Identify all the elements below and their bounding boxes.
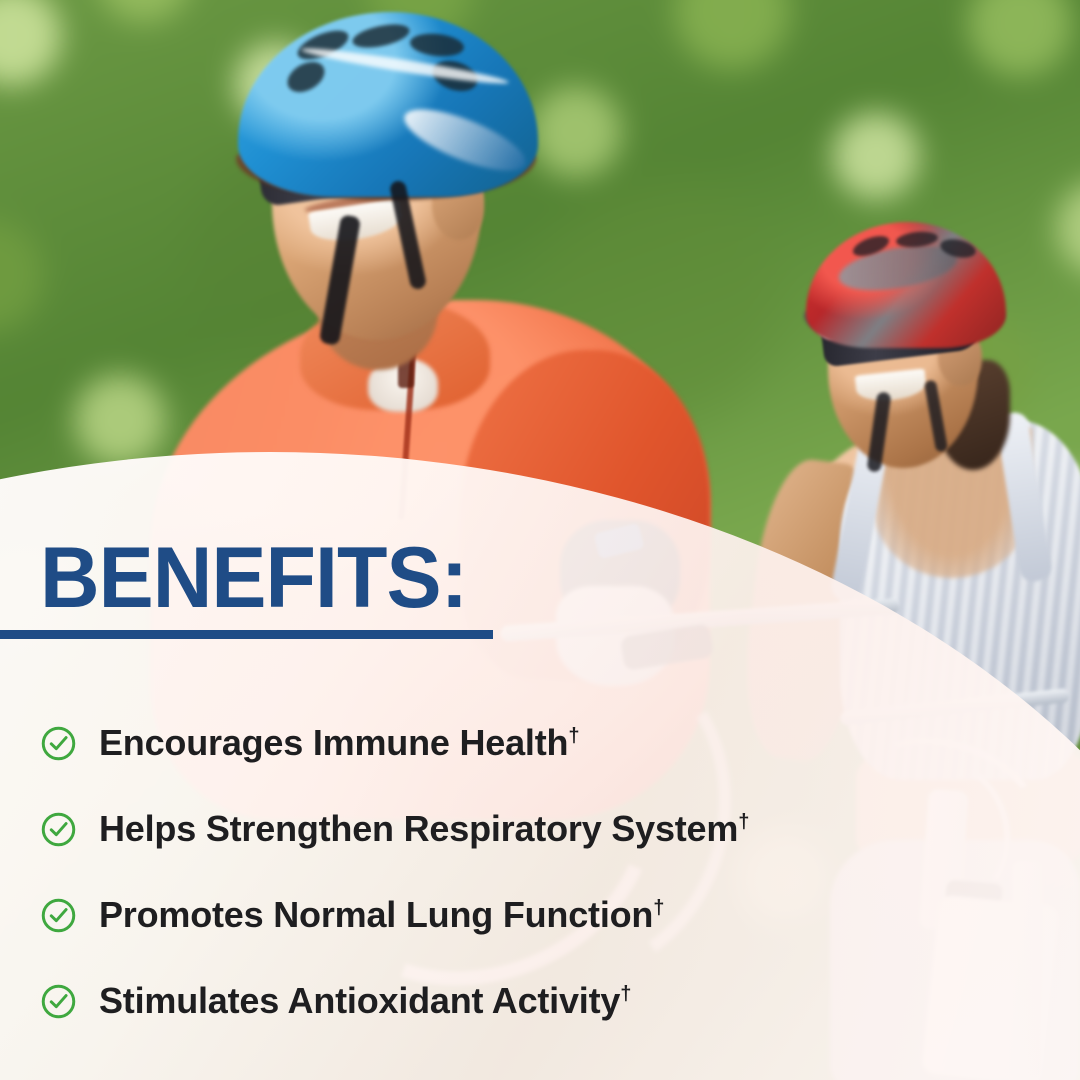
benefit-label: Stimulates Antioxidant Activity†	[99, 980, 631, 1022]
footnote-dagger: †	[738, 811, 749, 833]
footnote-dagger: †	[620, 983, 631, 1005]
benefit-text: Stimulates Antioxidant Activity	[99, 980, 620, 1021]
footnote-dagger: †	[568, 725, 579, 747]
benefit-text: Encourages Immune Health	[99, 722, 568, 763]
benefit-text: Helps Strengthen Respiratory System	[99, 808, 738, 849]
check-circle-icon	[40, 983, 77, 1020]
check-circle-icon	[40, 897, 77, 934]
title-underline	[0, 630, 493, 639]
benefit-label: Encourages Immune Health†	[99, 722, 579, 764]
benefit-label: Promotes Normal Lung Function†	[99, 894, 664, 936]
benefits-list: Encourages Immune Health† Helps Strength…	[0, 700, 1040, 1044]
check-circle-icon	[40, 811, 77, 848]
benefit-text: Promotes Normal Lung Function	[99, 894, 653, 935]
list-item: Encourages Immune Health†	[0, 700, 1040, 786]
page-title: BENEFITS:	[40, 535, 467, 621]
benefits-graphic: BENEFITS: Encourages Immune Health†	[0, 0, 1080, 1080]
benefit-label: Helps Strengthen Respiratory System†	[99, 808, 749, 850]
list-item: Stimulates Antioxidant Activity†	[0, 958, 1040, 1044]
check-circle-icon	[40, 725, 77, 762]
list-item: Helps Strengthen Respiratory System†	[0, 786, 1040, 872]
list-item: Promotes Normal Lung Function†	[0, 872, 1040, 958]
footnote-dagger: †	[653, 897, 664, 919]
benefits-content: BENEFITS: Encourages Immune Health†	[0, 0, 1080, 1080]
